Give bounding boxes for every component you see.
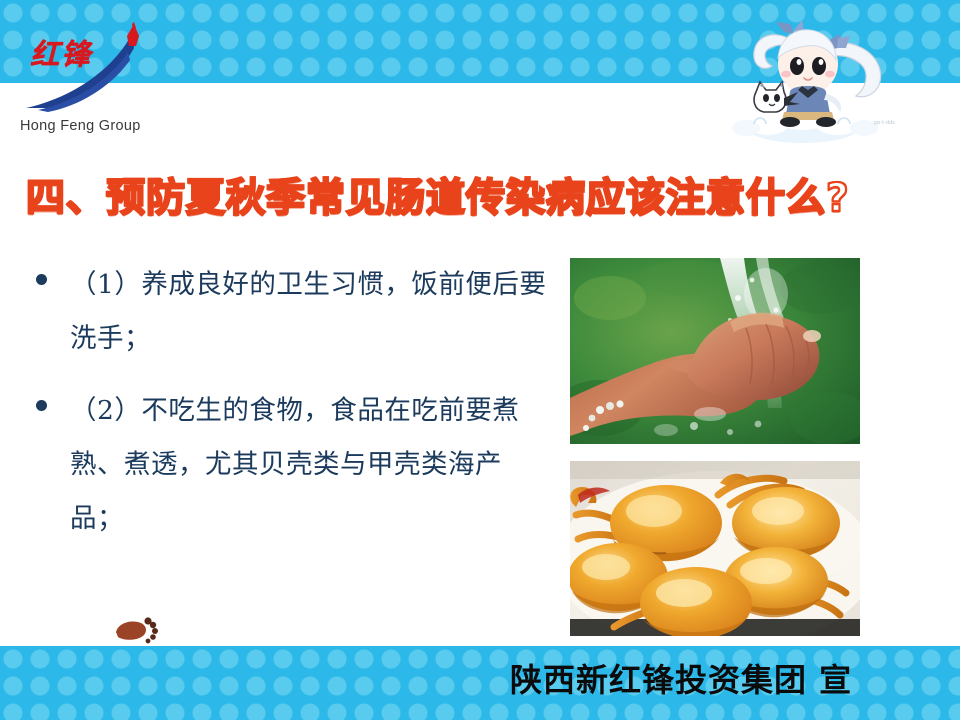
crab-body <box>640 567 752 636</box>
logo-chinese-name: 红锋 <box>30 40 92 69</box>
bullet-list: （1）养成良好的卫生习惯，饭前便后要洗手； （2）不吃生的食物，食品在吃前要煮熟… <box>22 258 552 564</box>
slide-canvas: 红锋 Hong Feng Group <box>0 0 960 720</box>
bullet-text-2: （2）不吃生的食物，食品在吃前要煮熟、煮透，尤其贝壳类与甲壳类海产品； <box>70 395 519 534</box>
bullet-point-icon <box>36 274 47 285</box>
company-logo: 红锋 Hong Feng Group <box>8 22 168 140</box>
mascot-head <box>778 30 838 94</box>
bullet-point-icon <box>36 400 47 411</box>
footer-organization-text: 陕西新红锋投资集团 宣 <box>510 656 940 704</box>
slide-title: 四、预防夏秋季常见肠道传染病应该注意什么? <box>26 172 936 228</box>
handwashing-photo <box>570 258 860 444</box>
mascot-illustration: pp-t-dds <box>698 8 908 148</box>
list-item: （1）养成良好的卫生习惯，饭前便后要洗手； <box>22 258 552 366</box>
logo-english-name: Hong Feng Group <box>20 118 141 134</box>
bullet-text-1: （1）养成良好的卫生习惯，饭前便后要洗手； <box>70 269 546 354</box>
list-item: （2）不吃生的食物，食品在吃前要煮熟、煮透，尤其贝壳类与甲壳类海产品； <box>22 384 552 546</box>
cooked-crabs-photo <box>570 461 860 636</box>
footprint-icon <box>112 612 160 646</box>
mascot-watermark: pp-t-dds <box>874 120 895 126</box>
